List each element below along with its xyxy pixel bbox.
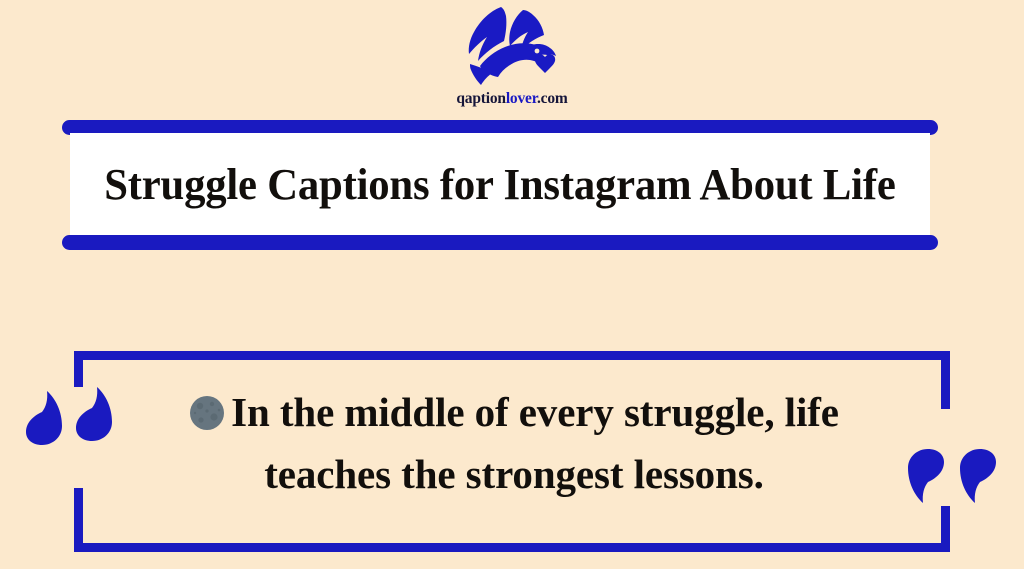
frame-segment-right-lower [941, 506, 950, 552]
poster-canvas: qaptionlover.com Struggle Captions for I… [0, 0, 1024, 569]
brand-name-part-2: lover [506, 90, 537, 107]
brand-header: qaptionlover.com [0, 4, 1024, 107]
new-moon-emoji [189, 395, 225, 431]
close-quote-mark-icon-2 [950, 448, 1000, 504]
brand-name-part-3: .com [537, 90, 568, 107]
frame-segment-right-upper [941, 351, 950, 409]
frame-segment-left-upper [74, 351, 83, 387]
open-quote-mark-icon-2 [72, 386, 122, 442]
brand-name-part-1: qaption [456, 90, 505, 107]
brand-name: qaptionlover.com [0, 91, 1024, 107]
frame-segment-left-lower [74, 488, 83, 552]
quote-line-1: In the middle of every struggle, life [231, 389, 839, 435]
close-quote-mark-icon-1 [898, 448, 948, 504]
frame-segment-bottom [74, 543, 950, 552]
title-panel: Struggle Captions for Instagram About Li… [70, 133, 930, 237]
dove-with-heart-icon [460, 4, 564, 90]
open-quote-mark-icon-1 [22, 390, 72, 446]
frame-segment-top [74, 351, 950, 360]
title-rule-bottom [62, 235, 938, 250]
title-block: Struggle Captions for Instagram About Li… [62, 120, 938, 250]
quote-line-2: teaches the strongest lessons. [264, 451, 764, 497]
page-title: Struggle Captions for Instagram About Li… [104, 163, 895, 207]
quote-text: In the middle of every struggle, life te… [128, 381, 900, 506]
